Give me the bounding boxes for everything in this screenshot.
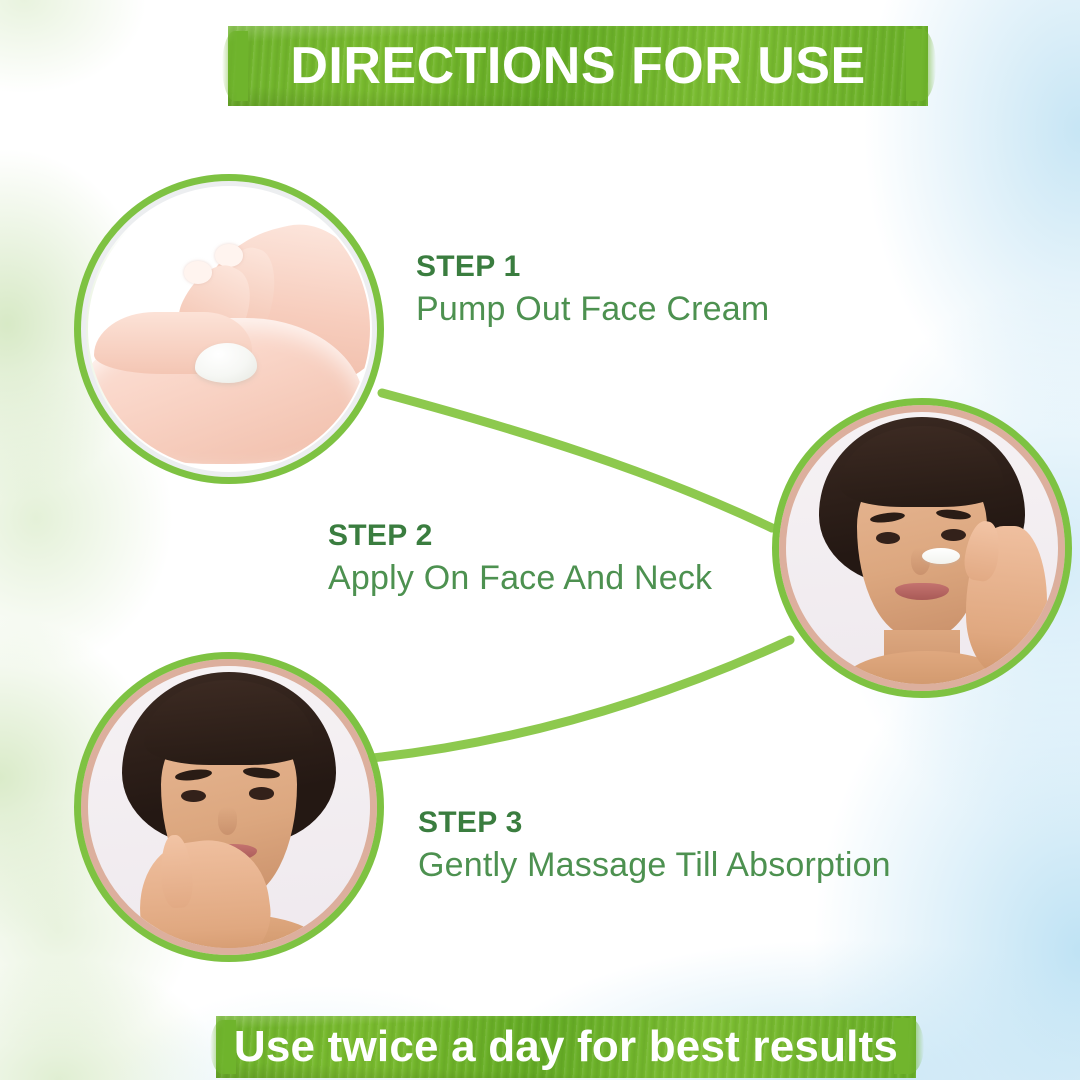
connector-step1-to-step2 bbox=[382, 393, 772, 528]
infographic-canvas: DIRECTIONS FOR USE bbox=[0, 0, 1080, 1080]
step-2-label: STEP 2 bbox=[328, 519, 712, 553]
step-2-description: Apply On Face And Neck bbox=[328, 559, 712, 598]
step-3-label: STEP 3 bbox=[418, 806, 891, 840]
title-banner: DIRECTIONS FOR USE bbox=[228, 26, 928, 106]
step-3-outer-ring bbox=[74, 652, 384, 962]
step-3-text-block: STEP 3 Gently Massage Till Absorption bbox=[418, 806, 891, 885]
step-1-outer-ring bbox=[74, 174, 384, 484]
footer-text: Use twice a day for best results bbox=[234, 1022, 898, 1072]
step-1-image-circle bbox=[74, 174, 384, 484]
step-3-description: Gently Massage Till Absorption bbox=[418, 846, 891, 885]
step-2-image-circle bbox=[772, 398, 1072, 698]
step-2-text-block: STEP 2 Apply On Face And Neck bbox=[328, 519, 712, 598]
page-title: DIRECTIONS FOR USE bbox=[290, 36, 865, 96]
step-2-outer-ring bbox=[772, 398, 1072, 698]
step-1-description: Pump Out Face Cream bbox=[416, 290, 769, 329]
footer-banner: Use twice a day for best results bbox=[216, 1016, 916, 1078]
connector-step2-to-step3 bbox=[372, 640, 790, 758]
step-1-text-block: STEP 1 Pump Out Face Cream bbox=[416, 250, 769, 329]
step-3-image-circle bbox=[74, 652, 384, 962]
step-1-label: STEP 1 bbox=[416, 250, 769, 284]
